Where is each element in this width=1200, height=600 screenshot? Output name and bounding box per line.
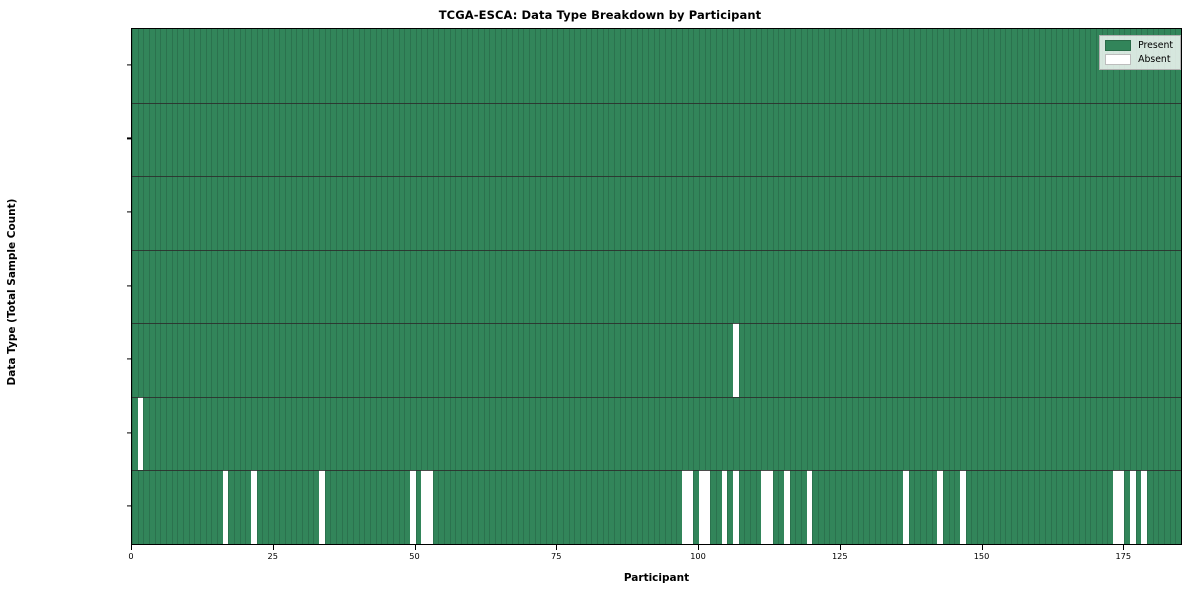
- x-axis-tick-mark: [273, 545, 274, 550]
- heatmap-row-separator: [132, 176, 1181, 177]
- heatmap-row-separator: [132, 250, 1181, 251]
- heatmap-cell-present: [1175, 250, 1181, 324]
- chart-legend: Present Absent: [1099, 35, 1181, 70]
- y-axis-tick-mark: [127, 358, 131, 359]
- x-axis-label: Participant: [131, 572, 1182, 584]
- x-axis-tick-label: 125: [810, 551, 870, 561]
- y-axis-tick-mark: [127, 138, 131, 139]
- y-axis-tick-mark: [127, 211, 131, 212]
- x-axis-tick-mark: [415, 545, 416, 550]
- heatmap-row: [132, 397, 1181, 471]
- heatmap-cell-present: [1175, 397, 1181, 471]
- heatmap-cell-present: [1175, 176, 1181, 250]
- heatmap-row: [132, 250, 1181, 324]
- legend-label-absent: Absent: [1138, 54, 1170, 65]
- x-axis-tick-label: 50: [385, 551, 445, 561]
- heatmap-cell-present: [1175, 103, 1181, 177]
- legend-label-present: Present: [1138, 40, 1173, 51]
- x-axis-tick-mark: [698, 545, 699, 550]
- heatmap-row-separator: [132, 397, 1181, 398]
- x-axis-tick-mark: [1123, 545, 1124, 550]
- y-axis-tick-mark: [127, 432, 131, 433]
- x-axis-tick-label: 150: [952, 551, 1012, 561]
- chart-title: TCGA-ESCA: Data Type Breakdown by Partic…: [0, 8, 1200, 22]
- heatmap-row: [132, 29, 1181, 103]
- y-axis-tick-mark: [127, 506, 131, 507]
- x-axis-tick-mark: [556, 545, 557, 550]
- chart-figure: TCGA-ESCA: Data Type Breakdown by Partic…: [0, 0, 1200, 600]
- y-axis-tick-mark: [127, 64, 131, 65]
- x-axis-tick-label: 100: [668, 551, 728, 561]
- heatmap-row: [132, 176, 1181, 250]
- x-axis-tick-label: 25: [243, 551, 303, 561]
- legend-swatch-present-icon: [1105, 40, 1131, 51]
- y-axis-tick-mark: [127, 285, 131, 286]
- heatmap-row-separator: [132, 470, 1181, 471]
- heatmap-row-separator: [132, 103, 1181, 104]
- heatmap-cell-present: [1175, 323, 1181, 397]
- heatmap-row: [132, 470, 1181, 544]
- x-axis-tick-mark: [840, 545, 841, 550]
- legend-item-present: Present: [1105, 40, 1173, 51]
- y-axis-label: Data Type (Total Sample Count): [6, 62, 18, 522]
- heatmap-plot-area: [131, 28, 1182, 545]
- x-axis-tick-label: 0: [101, 551, 161, 561]
- legend-item-absent: Absent: [1105, 54, 1173, 65]
- x-axis-tick-label: 75: [526, 551, 586, 561]
- heatmap-cell-present: [1175, 470, 1181, 544]
- x-axis-tick-label: 175: [1093, 551, 1153, 561]
- legend-swatch-absent-icon: [1105, 54, 1131, 65]
- heatmap-row-separator: [132, 323, 1181, 324]
- x-axis-tick-mark: [982, 545, 983, 550]
- x-axis-tick-mark: [131, 545, 132, 550]
- heatmap-row: [132, 103, 1181, 177]
- heatmap-row: [132, 323, 1181, 397]
